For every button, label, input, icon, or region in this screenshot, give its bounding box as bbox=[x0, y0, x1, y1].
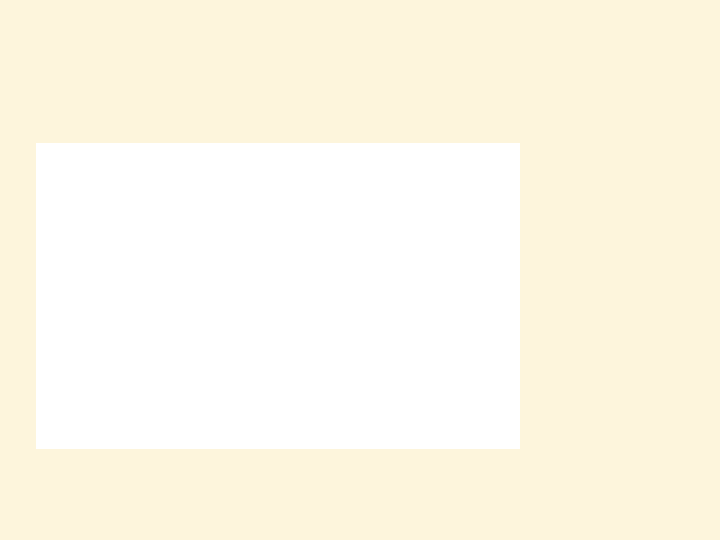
legend-marker-mixed-icon bbox=[536, 242, 547, 253]
legend-item-mixed bbox=[536, 232, 706, 262]
legend-marker-unmixed-icon bbox=[536, 208, 547, 219]
figure-panel bbox=[36, 143, 520, 449]
legend-item-unmixed bbox=[536, 198, 706, 228]
chart-legend bbox=[536, 198, 706, 266]
scatter-plot bbox=[36, 143, 520, 449]
